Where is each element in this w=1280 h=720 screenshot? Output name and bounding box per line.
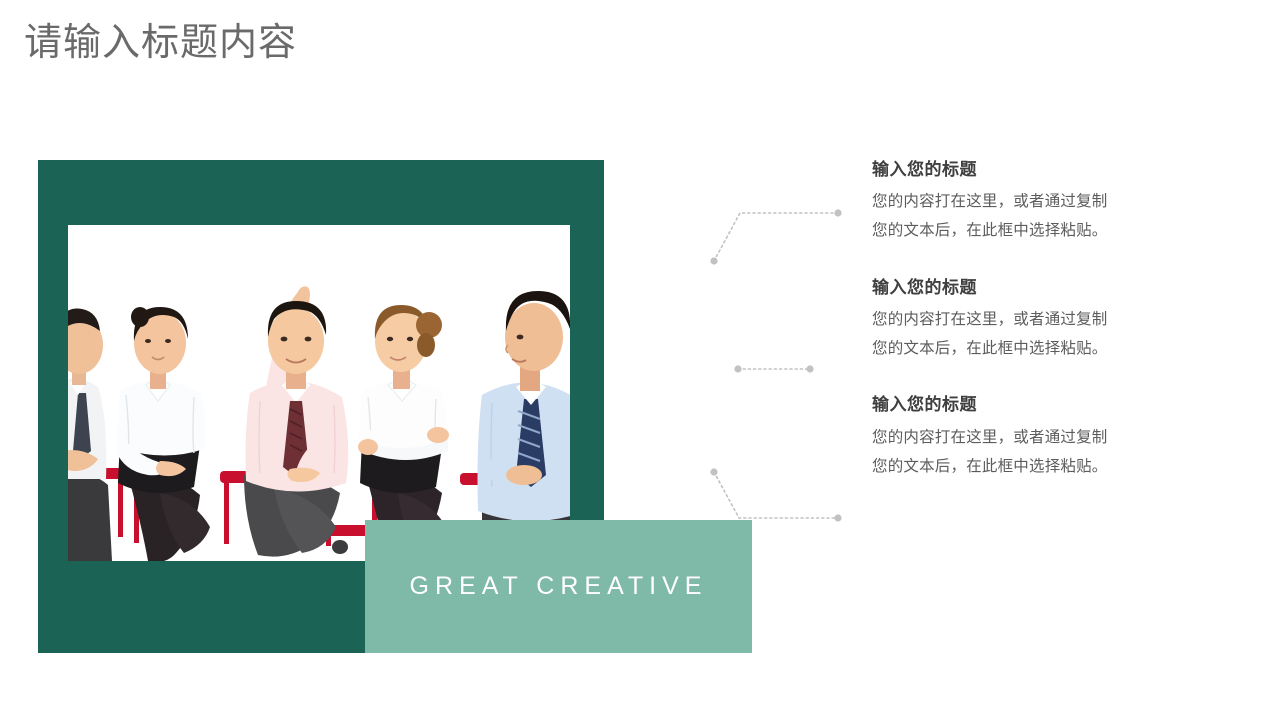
meeting-photo: [68, 225, 570, 561]
content-block-1-heading: 输入您的标题: [872, 160, 1117, 180]
content-column: 输入您的标题 您的内容打在这里，或者通过复制您的文本后，在此框中选择粘贴。 输入…: [872, 160, 1117, 481]
slide-canvas: 请输入标题内容: [0, 0, 1280, 720]
content-block-3-heading: 输入您的标题: [872, 395, 1117, 415]
content-block-1-body: 您的内容打在这里，或者通过复制您的文本后，在此框中选择粘贴。: [872, 188, 1117, 245]
accent-label: GREAT CREATIVE: [410, 572, 708, 601]
connector-1: [705, 204, 847, 270]
connector-2: [730, 360, 822, 378]
content-block-3: 输入您的标题 您的内容打在这里，或者通过复制您的文本后，在此框中选择粘贴。: [872, 395, 1117, 481]
photo-frame: [68, 225, 570, 561]
content-block-2-heading: 输入您的标题: [872, 278, 1117, 298]
content-block-2: 输入您的标题 您的内容打在这里，或者通过复制您的文本后，在此框中选择粘贴。: [872, 278, 1117, 364]
content-block-3-body: 您的内容打在这里，或者通过复制您的文本后，在此框中选择粘贴。: [872, 424, 1117, 481]
connector-3: [705, 463, 847, 529]
content-block-1: 输入您的标题 您的内容打在这里，或者通过复制您的文本后，在此框中选择粘贴。: [872, 160, 1117, 246]
content-block-2-body: 您的内容打在这里，或者通过复制您的文本后，在此框中选择粘贴。: [872, 306, 1117, 363]
accent-panel: GREAT CREATIVE: [365, 520, 752, 653]
page-title: 请输入标题内容: [24, 20, 297, 68]
